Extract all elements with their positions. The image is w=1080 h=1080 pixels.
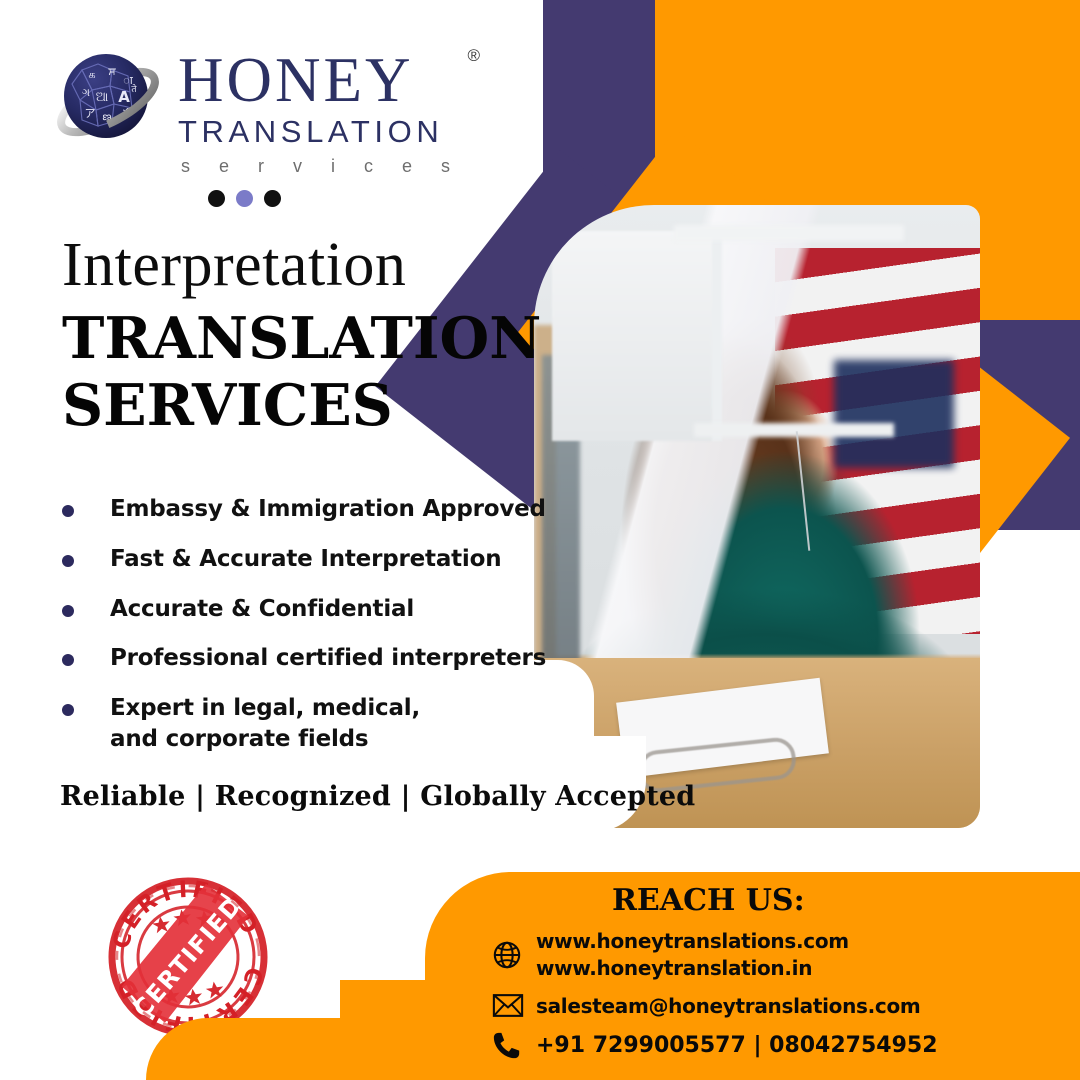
flag-canton xyxy=(834,360,954,468)
contact-email[interactable]: salesteam@honeytranslations.com xyxy=(536,993,920,1020)
contact-phone[interactable]: +91 7299005577 | 08042754952 xyxy=(536,1033,938,1058)
shelf-white-unit xyxy=(552,231,722,441)
list-item: Professional certified interpreters xyxy=(52,643,552,674)
logo-wordmark: HONEY ® TRANSLATION s e r v i c e s xyxy=(178,44,462,177)
shelf-top-rail xyxy=(674,225,904,241)
contact-row-website[interactable]: www.honeytranslations.com www.honeytrans… xyxy=(492,928,1052,982)
logo-subtitle: TRANSLATION xyxy=(178,114,462,150)
dot-2-icon xyxy=(236,190,253,207)
bullet-dot-icon xyxy=(62,654,74,666)
headline-bold-block: TRANSLATION SERVICES xyxy=(62,306,532,439)
logo-tagline: s e r v i c e s xyxy=(178,156,462,177)
headline-script-line: Interpretation xyxy=(62,234,532,296)
bullet-dot-icon xyxy=(62,605,74,617)
feature-list: Embassy & Immigration Approved Fast & Ac… xyxy=(52,494,552,774)
list-item: Accurate & Confidential xyxy=(52,594,552,625)
list-item: Fast & Accurate Interpretation xyxy=(52,544,552,575)
svg-text:A: A xyxy=(118,88,130,106)
envelope-icon xyxy=(492,993,536,1018)
bullet-dot-icon xyxy=(62,505,74,517)
list-item: Embassy & Immigration Approved xyxy=(52,494,552,525)
dot-1-icon xyxy=(208,190,225,207)
dot-3-icon xyxy=(264,190,281,207)
list-item-label: Expert in legal, medical, and corporate … xyxy=(110,693,460,755)
registered-mark-icon: ® xyxy=(468,46,481,66)
hero-photo xyxy=(534,205,980,828)
bullet-dot-icon xyxy=(62,704,74,716)
shelf-mid-rail xyxy=(694,423,894,437)
contact-website-group[interactable]: www.honeytranslations.com www.honeytrans… xyxy=(536,928,849,982)
contact-website-1[interactable]: www.honeytranslations.com xyxy=(536,928,849,955)
decorative-dots xyxy=(208,190,281,207)
brand-logo: க ਸ ा ગ ଆ A ते ア ణ న HONEY ® TRANSLATION… xyxy=(52,44,462,177)
globe-logo-icon: க ਸ ा ગ ଆ A ते ア ణ న xyxy=(52,44,164,156)
trust-tagline: Reliable | Recognized | Globally Accepte… xyxy=(60,781,695,812)
logo-name: HONEY xyxy=(178,50,462,110)
contact-row-phone[interactable]: +91 7299005577 | 08042754952 xyxy=(492,1030,1052,1060)
bullet-dot-icon xyxy=(62,555,74,567)
contact-row-email[interactable]: salesteam@honeytranslations.com xyxy=(492,993,1052,1020)
phone-icon xyxy=(492,1030,536,1060)
list-item-label: Accurate & Confidential xyxy=(110,594,414,625)
list-item-label: Fast & Accurate Interpretation xyxy=(110,544,501,575)
list-item-label: Professional certified interpreters xyxy=(110,643,546,674)
globe-icon xyxy=(492,940,536,970)
svg-text:ਸ: ਸ xyxy=(107,65,116,78)
poster-canvas: க ਸ ा ગ ଆ A ते ア ణ న HONEY ® TRANSLATION… xyxy=(0,0,1080,1080)
list-item-label: Embassy & Immigration Approved xyxy=(110,494,546,525)
headline-bold-line-2: SERVICES xyxy=(62,373,532,440)
svg-text:ते: ते xyxy=(131,83,137,95)
contact-website-2[interactable]: www.honeytranslation.in xyxy=(536,955,849,982)
svg-text:ア: ア xyxy=(85,107,96,120)
page-title: Interpretation TRANSLATION SERVICES xyxy=(62,234,532,439)
svg-text:க: க xyxy=(88,68,95,81)
list-item: Expert in legal, medical, and corporate … xyxy=(52,693,552,755)
contact-heading: REACH US: xyxy=(612,883,805,918)
contact-list: www.honeytranslations.com www.honeytrans… xyxy=(492,928,1052,1071)
svg-text:ગ: ગ xyxy=(82,86,90,99)
svg-text:ଆ: ଆ xyxy=(96,90,109,105)
headline-bold-line-1: TRANSLATION xyxy=(62,306,532,373)
